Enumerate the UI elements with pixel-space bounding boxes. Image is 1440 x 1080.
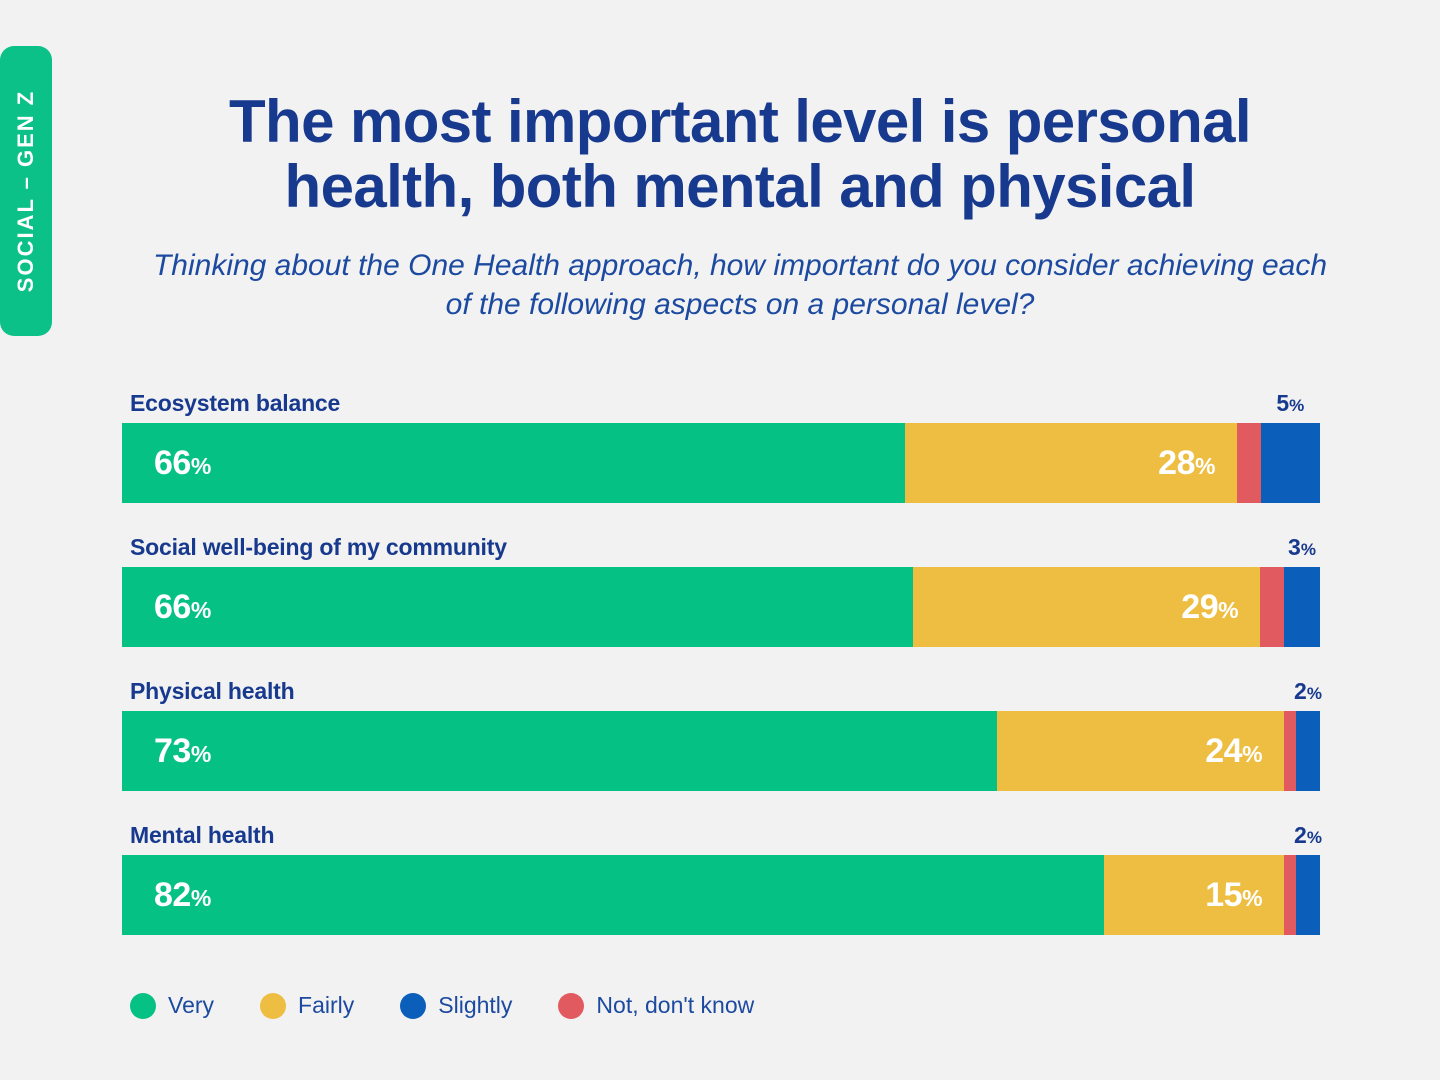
bar-segment-fairly-value: 24% bbox=[1205, 732, 1262, 771]
bar-segment-very-number: 82 bbox=[154, 876, 191, 914]
legend-item-slightly[interactable]: Slightly bbox=[400, 992, 512, 1019]
bar-group: Social well-being of my community3%66%29… bbox=[122, 529, 1320, 647]
bar-slightly-value-label: 5% bbox=[1276, 390, 1304, 417]
legend-item-not[interactable]: Not, don't know bbox=[558, 992, 754, 1019]
bar-slightly-value: 5 bbox=[1276, 390, 1289, 416]
percent-sign: % bbox=[191, 741, 211, 767]
bar-segment-very-value: 82% bbox=[154, 876, 211, 915]
bar-slightly-value-label: 2% bbox=[1294, 678, 1322, 705]
bar-segment-very-value: 66% bbox=[154, 588, 211, 627]
legend-item-fairly[interactable]: Fairly bbox=[260, 992, 354, 1019]
bar-header: Mental health2% bbox=[122, 817, 1320, 849]
legend-label: Slightly bbox=[438, 992, 512, 1019]
bar-segment-very-number: 66 bbox=[154, 588, 191, 626]
page-subtitle: Thinking about the One Health approach, … bbox=[150, 246, 1330, 326]
bar-header: Ecosystem balance5% bbox=[122, 385, 1320, 417]
percent-sign: % bbox=[1218, 597, 1238, 623]
bar-segment-very-number: 73 bbox=[154, 732, 191, 770]
bar-track: 66%28% bbox=[122, 423, 1320, 503]
bar-segment-fairly-value: 15% bbox=[1205, 876, 1262, 915]
bar-segment-very[interactable]: 66% bbox=[122, 423, 905, 503]
bar-slightly-value: 2 bbox=[1294, 678, 1307, 704]
legend-label: Not, don't know bbox=[596, 992, 754, 1019]
bar-group: Ecosystem balance5%66%28% bbox=[122, 385, 1320, 503]
percent-sign: % bbox=[191, 597, 211, 623]
bar-segment-fairly[interactable]: 24% bbox=[997, 711, 1285, 791]
legend-label: Fairly bbox=[298, 992, 354, 1019]
percent-sign: % bbox=[1301, 540, 1316, 559]
bar-segment-not-dont-know[interactable] bbox=[1284, 711, 1296, 791]
bar-category-label: Ecosystem balance bbox=[130, 390, 340, 417]
percent-sign: % bbox=[1195, 453, 1215, 479]
bar-segment-slightly[interactable] bbox=[1261, 423, 1320, 503]
bar-segment-fairly-number: 24 bbox=[1205, 732, 1242, 770]
bar-category-label: Social well-being of my community bbox=[130, 534, 507, 561]
percent-sign: % bbox=[1242, 741, 1262, 767]
bar-segment-very-value: 73% bbox=[154, 732, 211, 771]
page-title: The most important level is personal hea… bbox=[150, 90, 1330, 220]
slide-root: SOCIAL – GEN Z The most important level … bbox=[0, 0, 1440, 1080]
bar-slightly-value: 3 bbox=[1288, 534, 1301, 560]
percent-sign: % bbox=[1289, 396, 1304, 415]
bar-segment-fairly[interactable]: 15% bbox=[1104, 855, 1284, 935]
bar-segment-very-number: 66 bbox=[154, 444, 191, 482]
bar-segment-very-value: 66% bbox=[154, 444, 211, 483]
bar-slightly-value-label: 3% bbox=[1288, 534, 1316, 561]
percent-sign: % bbox=[1307, 828, 1322, 847]
legend-swatch-very-icon bbox=[130, 993, 156, 1019]
percent-sign: % bbox=[1307, 684, 1322, 703]
percent-sign: % bbox=[191, 453, 211, 479]
legend-swatch-fairly-icon bbox=[260, 993, 286, 1019]
bar-category-label: Mental health bbox=[130, 822, 274, 849]
bar-segment-slightly[interactable] bbox=[1284, 567, 1320, 647]
percent-sign: % bbox=[191, 885, 211, 911]
legend-swatch-not-icon bbox=[558, 993, 584, 1019]
bar-track: 73%24% bbox=[122, 711, 1320, 791]
bar-segment-very[interactable]: 82% bbox=[122, 855, 1104, 935]
bar-track: 66%29% bbox=[122, 567, 1320, 647]
bar-header: Physical health2% bbox=[122, 673, 1320, 705]
bar-segment-fairly-number: 29 bbox=[1181, 588, 1218, 626]
bar-segment-not-dont-know[interactable] bbox=[1237, 423, 1261, 503]
bar-group: Mental health2%82%15% bbox=[122, 817, 1320, 935]
bar-segment-not-dont-know[interactable] bbox=[1260, 567, 1284, 647]
bar-slightly-value-label: 2% bbox=[1294, 822, 1322, 849]
bar-group: Physical health2%73%24% bbox=[122, 673, 1320, 791]
bar-segment-fairly[interactable]: 28% bbox=[905, 423, 1237, 503]
bar-segment-slightly[interactable] bbox=[1296, 855, 1320, 935]
bar-segment-not-dont-know[interactable] bbox=[1284, 855, 1296, 935]
bar-header: Social well-being of my community3% bbox=[122, 529, 1320, 561]
bar-segment-slightly[interactable] bbox=[1296, 711, 1320, 791]
bar-segment-very[interactable]: 66% bbox=[122, 567, 913, 647]
bar-category-label: Physical health bbox=[130, 678, 294, 705]
bar-segment-fairly[interactable]: 29% bbox=[913, 567, 1260, 647]
bar-segment-fairly-number: 28 bbox=[1158, 444, 1195, 482]
stacked-bar-chart: Ecosystem balance5%66%28%Social well-bei… bbox=[122, 385, 1320, 961]
percent-sign: % bbox=[1242, 885, 1262, 911]
bar-segment-fairly-value: 28% bbox=[1158, 444, 1215, 483]
section-tab-social-gen-z: SOCIAL – GEN Z bbox=[0, 46, 52, 336]
bar-slightly-value: 2 bbox=[1294, 822, 1307, 848]
chart-legend: VeryFairlySlightlyNot, don't know bbox=[130, 992, 754, 1019]
bar-track: 82%15% bbox=[122, 855, 1320, 935]
bar-segment-fairly-value: 29% bbox=[1181, 588, 1238, 627]
bar-segment-fairly-number: 15 bbox=[1205, 876, 1242, 914]
legend-label: Very bbox=[168, 992, 214, 1019]
section-tab-label: SOCIAL – GEN Z bbox=[13, 90, 39, 292]
legend-item-very[interactable]: Very bbox=[130, 992, 214, 1019]
bar-segment-very[interactable]: 73% bbox=[122, 711, 997, 791]
header: The most important level is personal hea… bbox=[150, 90, 1330, 325]
legend-swatch-slightly-icon bbox=[400, 993, 426, 1019]
